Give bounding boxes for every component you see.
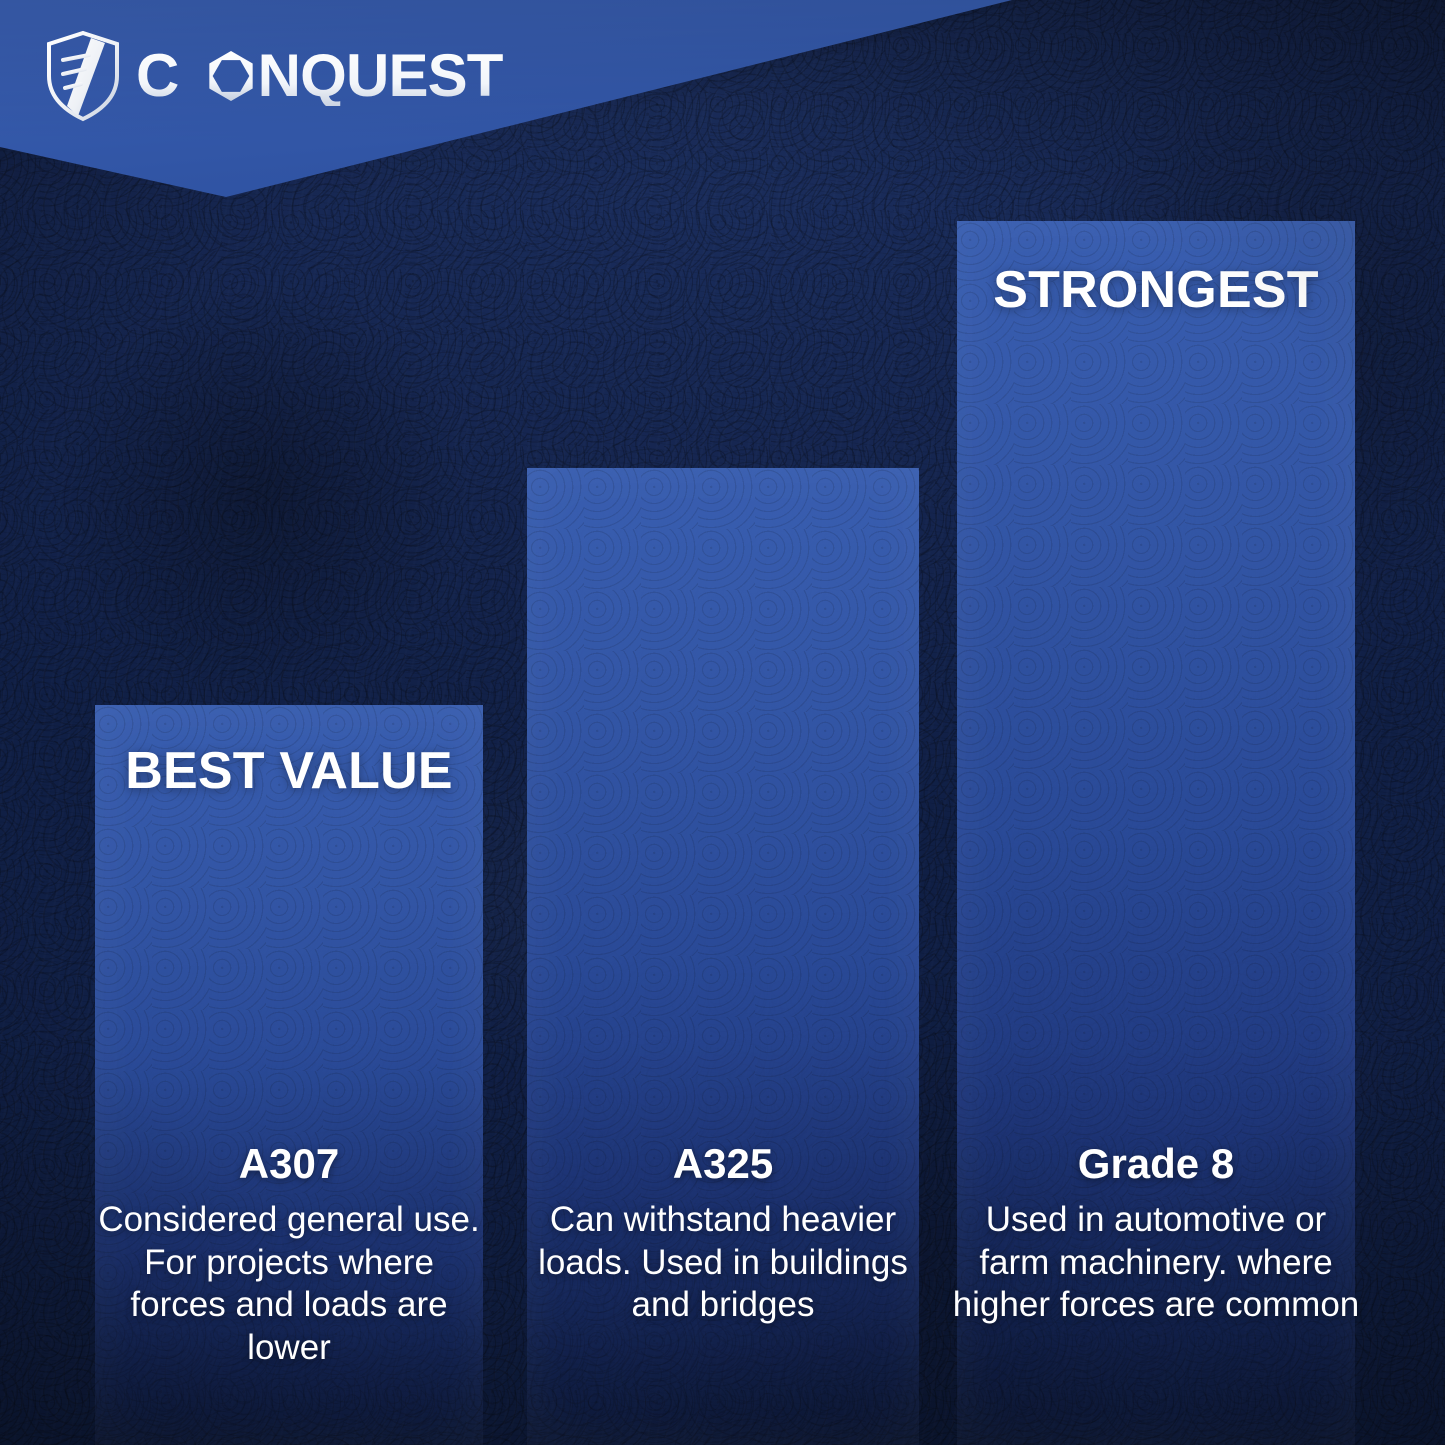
brand-wordmark-text: C NQUEST	[136, 46, 509, 106]
caption-a325: A325 Can withstand heavier loads. Used i…	[527, 1143, 919, 1327]
svg-text:NQUEST: NQUEST	[258, 46, 503, 106]
brand-logo[interactable]: C NQUEST	[44, 30, 509, 122]
svg-text:C: C	[136, 46, 179, 106]
caption-title-a325: A325	[527, 1143, 919, 1185]
caption-title-a307: A307	[95, 1143, 483, 1185]
brand-wordmark: C NQUEST	[136, 30, 509, 122]
caption-body-grade8: Used in automotive or farm machinery. wh…	[952, 1199, 1360, 1327]
caption-grade8: Grade 8 Used in automotive or farm machi…	[952, 1143, 1360, 1327]
caption-title-grade8: Grade 8	[952, 1143, 1360, 1185]
caption-body-a307: Considered general use. For projects whe…	[95, 1199, 483, 1370]
shield-bolt-icon	[44, 30, 122, 122]
infographic-canvas: BEST VALUE STRONGEST A307 Considered gen…	[0, 0, 1445, 1445]
caption-body-a325: Can withstand heavier loads. Used in bui…	[527, 1199, 919, 1327]
caption-a307: A307 Considered general use. For project…	[95, 1143, 483, 1370]
